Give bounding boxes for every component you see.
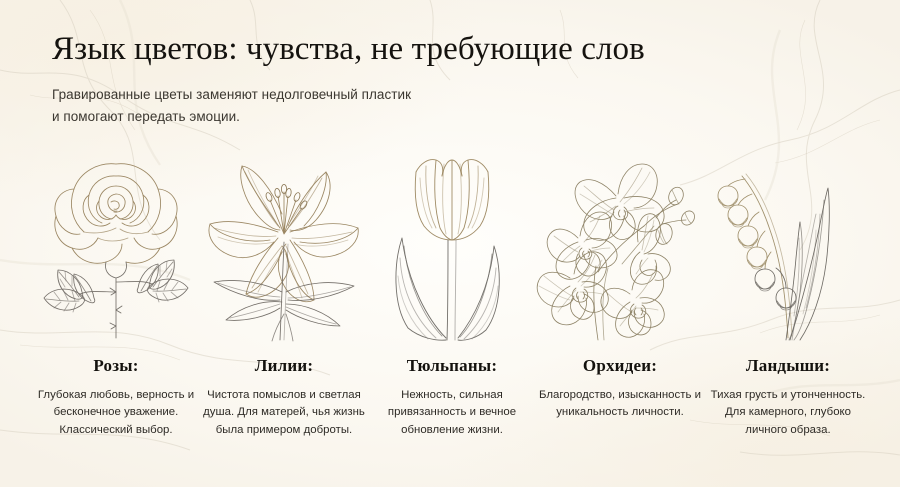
flower-name: Орхидеи: xyxy=(583,356,657,376)
flower-name: Ландыши: xyxy=(746,356,830,376)
flower-description: Глубокая любовь, верность и бесконечное … xyxy=(35,387,198,439)
rose-icon xyxy=(32,142,200,342)
subtitle-line-2: и помогают передать эмоции. xyxy=(52,106,752,128)
page-subtitle: Гравированные цветы заменяют недолговечн… xyxy=(52,84,752,129)
flower-description: Тихая грусть и утонченность. Для камерно… xyxy=(707,387,870,439)
lily-icon xyxy=(200,142,368,342)
lily-of-the-valley-icon xyxy=(704,142,872,342)
flower-description: Чистота помыслов и светлая душа. Для мат… xyxy=(203,387,366,439)
flower-card-tulip: Тюльпаны: Нежность, сильная привязанност… xyxy=(368,142,536,439)
flower-description: Нежность, сильная привязанность и вечное… xyxy=(371,387,534,439)
poster-header: Язык цветов: чувства, не требующие слов … xyxy=(52,30,752,128)
flower-name: Лилии: xyxy=(255,356,313,376)
flower-name: Розы: xyxy=(93,356,138,376)
flower-language-poster: Язык цветов: чувства, не требующие слов … xyxy=(0,0,900,487)
flower-description: Благородство, изысканность и уникальност… xyxy=(539,387,702,422)
flower-card-lily: Лилии: Чистота помыслов и светлая душа. … xyxy=(200,142,368,439)
tulip-icon xyxy=(368,142,536,342)
flower-card-orchid: Орхидеи: Благородство, изысканность и ун… xyxy=(536,142,704,439)
flower-name: Тюльпаны: xyxy=(407,356,497,376)
flower-grid: Розы: Глубокая любовь, верность и бескон… xyxy=(32,142,872,439)
subtitle-line-1: Гравированные цветы заменяют недолговечн… xyxy=(52,84,752,106)
flower-card-rose: Розы: Глубокая любовь, верность и бескон… xyxy=(32,142,200,439)
orchid-icon xyxy=(536,142,704,342)
page-title: Язык цветов: чувства, не требующие слов xyxy=(52,30,752,70)
flower-card-lily-of-the-valley: Ландыши: Тихая грусть и утонченность. Дл… xyxy=(704,142,872,439)
